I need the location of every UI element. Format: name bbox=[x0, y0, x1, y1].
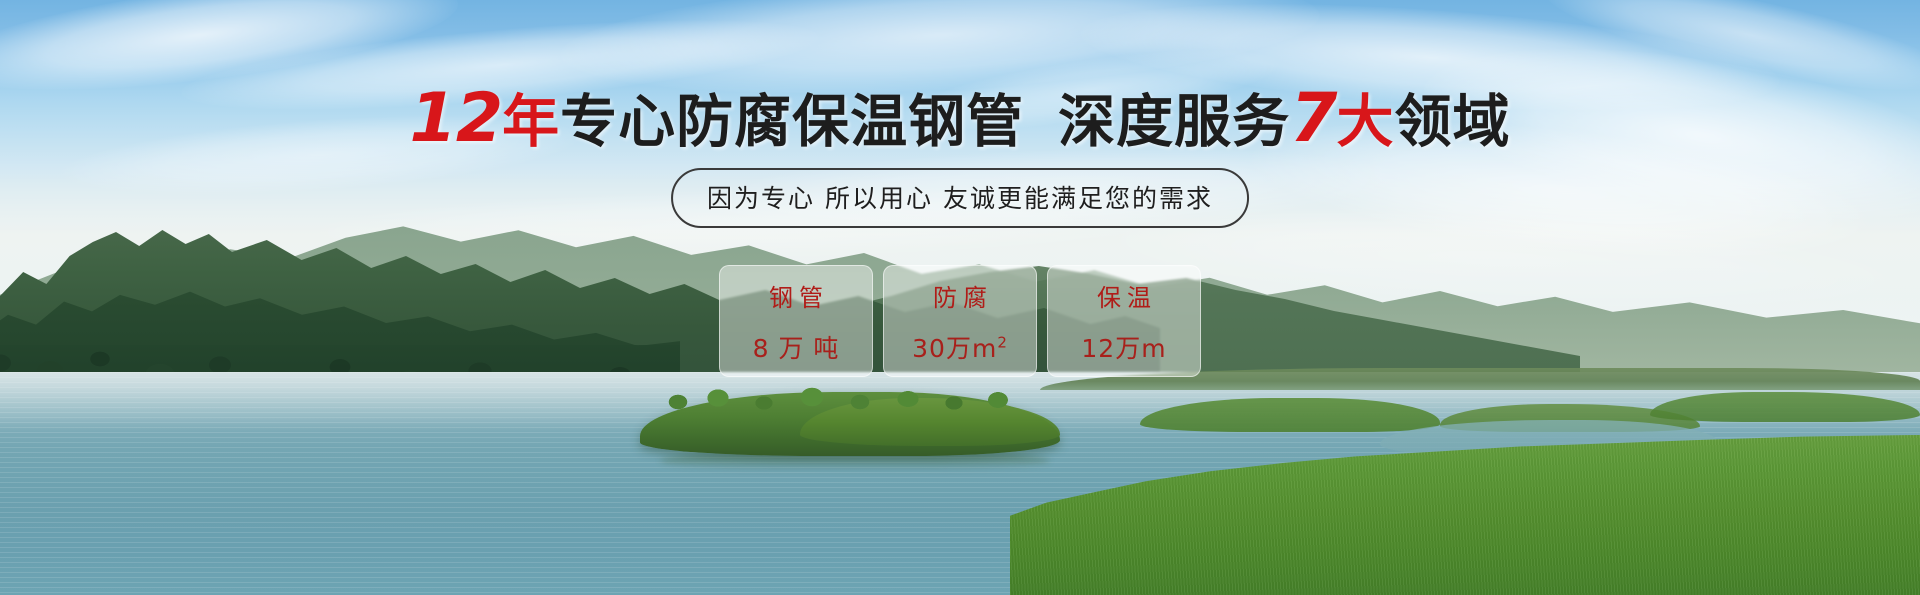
banner-headline: 12年专心防腐保温钢管深度服务7大领域 bbox=[0, 80, 1920, 158]
stat-card-value: 8 万 吨 bbox=[753, 329, 840, 365]
stat-card-value-text: 12万m bbox=[1081, 334, 1166, 363]
headline-fields-unit: 大 bbox=[1336, 89, 1394, 155]
banner-subtitle-pill: 因为专心 所以用心 友诚更能满足您的需求 bbox=[671, 168, 1249, 228]
stat-card-title: 保温 bbox=[1091, 278, 1157, 313]
stat-card-value-text: 30万m bbox=[912, 334, 997, 363]
headline-years-unit: 年 bbox=[502, 89, 560, 155]
stat-card-value-exponent: 2 bbox=[997, 333, 1008, 351]
stat-card-value: 12万m bbox=[1081, 329, 1166, 365]
stat-card-group: 钢管 8 万 吨 防腐 30万m2 保温 12万m bbox=[719, 265, 1201, 377]
stat-card-title: 防腐 bbox=[927, 278, 993, 313]
stat-card-title: 钢管 bbox=[763, 278, 829, 313]
banner-content: 12年专心防腐保温钢管深度服务7大领域 因为专心 所以用心 友诚更能满足您的需求… bbox=[0, 0, 1920, 595]
stat-card-insulation: 保温 12万m bbox=[1047, 265, 1201, 377]
headline-phrase-one: 专心防腐保温钢管 bbox=[560, 89, 1024, 155]
stat-card-value: 30万m2 bbox=[912, 329, 1008, 365]
headline-phrase-two: 深度服务 bbox=[1058, 89, 1290, 155]
headline-fields-number: 7 bbox=[1290, 79, 1336, 158]
headline-phrase-three: 领域 bbox=[1394, 89, 1510, 155]
promotional-banner: 12年专心防腐保温钢管深度服务7大领域 因为专心 所以用心 友诚更能满足您的需求… bbox=[0, 0, 1920, 595]
stat-card-anticorrosion: 防腐 30万m2 bbox=[883, 265, 1037, 377]
stat-card-steel-pipe: 钢管 8 万 吨 bbox=[719, 265, 873, 377]
stat-card-value-text: 8 万 吨 bbox=[753, 334, 840, 363]
headline-years-number: 12 bbox=[410, 79, 503, 158]
